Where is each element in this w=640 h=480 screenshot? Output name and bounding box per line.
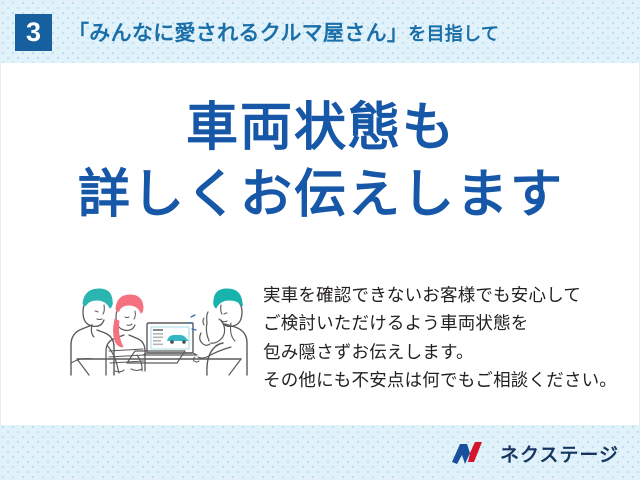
step-number-badge: 3 (15, 14, 52, 51)
body-copy: 実車を確認できないお客様でも安心して ご検討いただけるよう車両状態を 包み隠さず… (263, 281, 623, 394)
illustration-svg (59, 271, 259, 393)
footer-band: ネクステージ (1, 425, 640, 480)
headline-line-1: 車両状態も (1, 95, 640, 162)
header-content: 3 「みんなに愛されるクルマ屋さん」を目指して (1, 1, 640, 63)
page-headline: 車両状態も 詳しくお伝えします (1, 95, 640, 228)
sales-consultation-illustration (59, 271, 259, 393)
promo-banner: 3 「みんなに愛されるクルマ屋さん」を目指して 車両状態も 詳しくお伝えします (0, 0, 640, 480)
body-line-4: その他にも不安点は何でもご相談ください。 (263, 366, 623, 394)
body-line-1: 実車を確認できないお客様でも安心して (263, 281, 623, 309)
brand-lockup: ネクステージ (450, 425, 619, 480)
header-title-main: 「みんなに愛されるクルマ屋さん」 (68, 22, 408, 45)
body-line-3: 包み隠さずお伝えします。 (263, 338, 623, 366)
brand-name: ネクステージ (500, 440, 619, 467)
nextstage-n-logo-icon (450, 440, 492, 466)
main-content: 車両状態も 詳しくお伝えします (1, 63, 640, 425)
headline-line-2: 詳しくお伝えします (1, 162, 640, 229)
header-title: 「みんなに愛されるクルマ屋さん」を目指して (68, 17, 499, 47)
header-title-suffix: を目指して (408, 24, 499, 44)
header-band: 3 「みんなに愛されるクルマ屋さん」を目指して (1, 1, 640, 63)
body-line-2: ご検討いただけるよう車両状態を (263, 309, 623, 337)
